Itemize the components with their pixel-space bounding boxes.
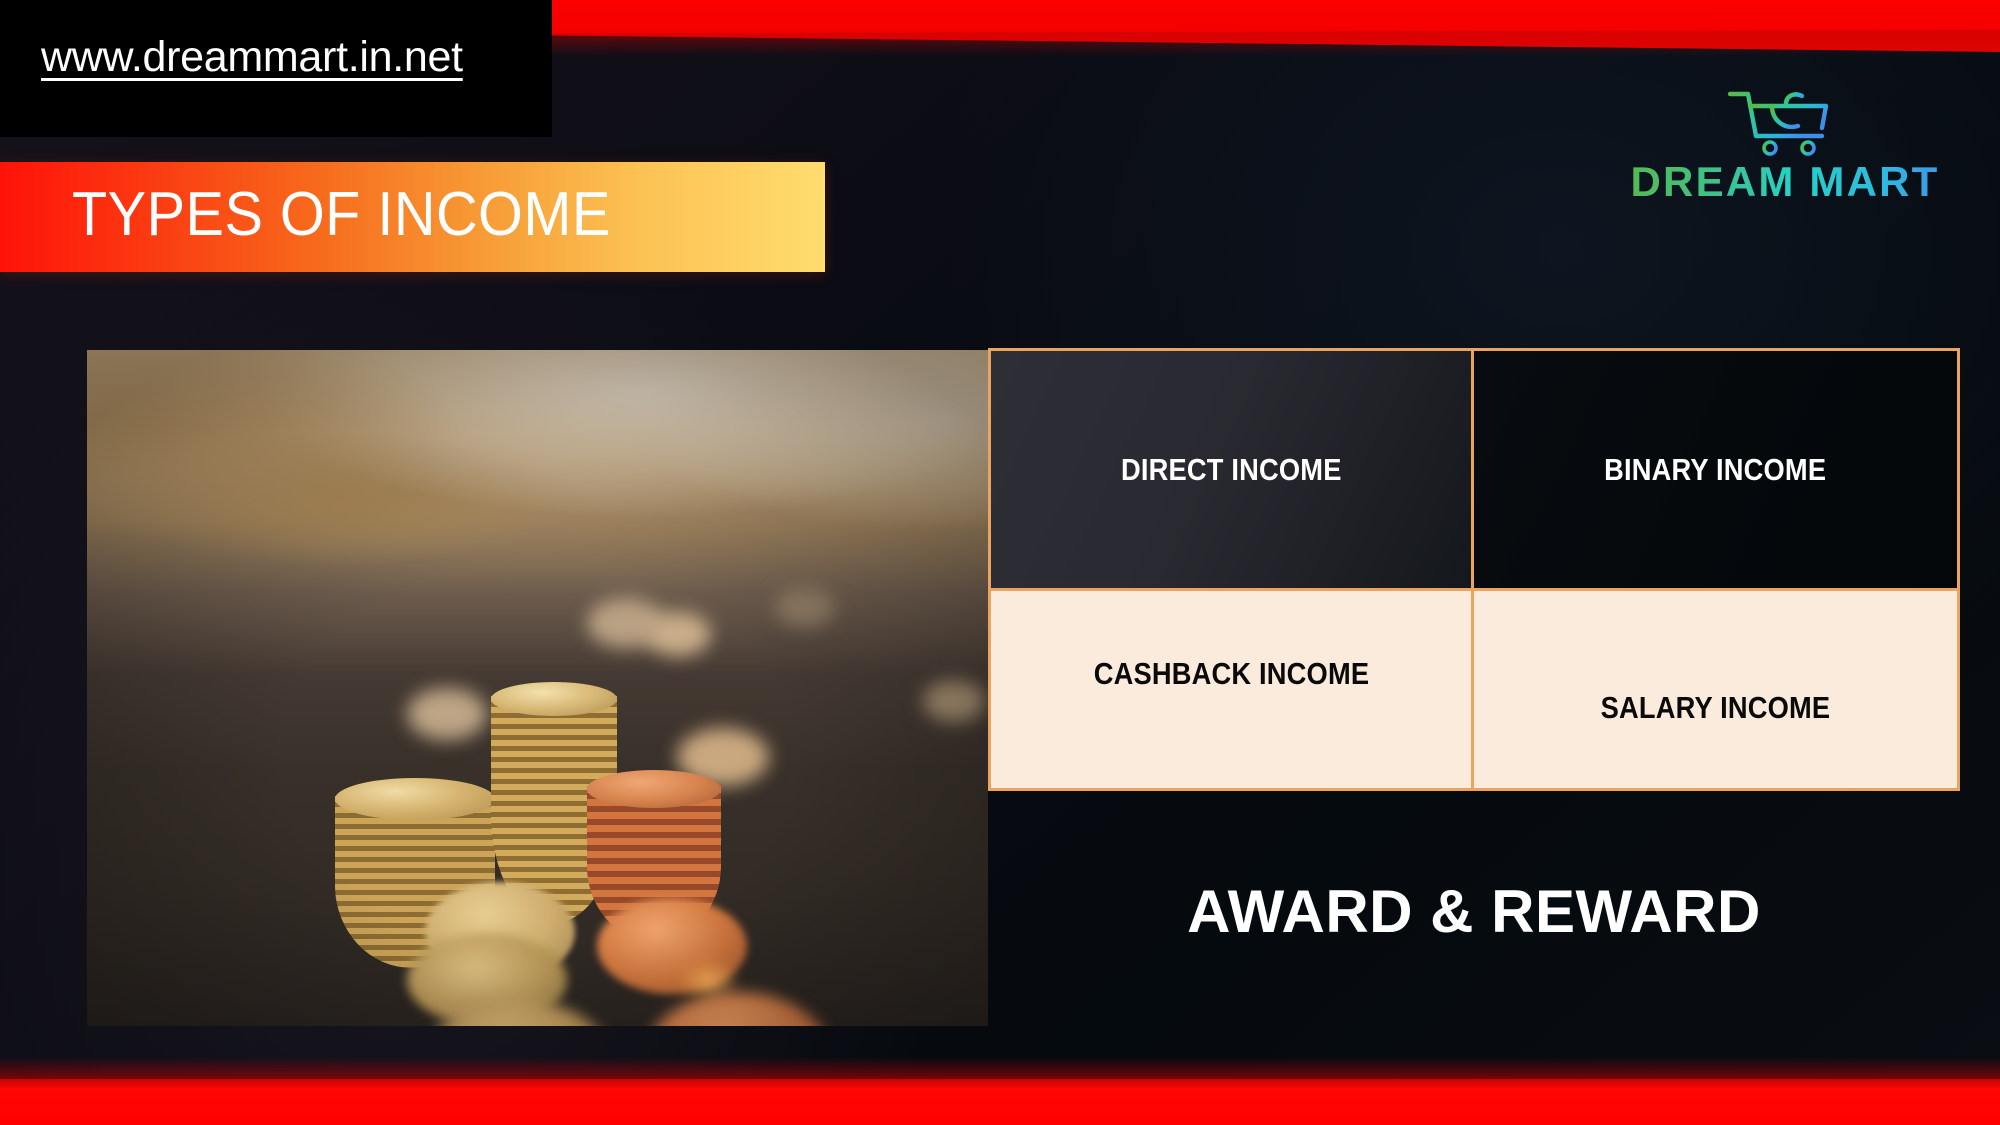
table-cell-cashback-income[interactable]: CASHBACK INCOME bbox=[991, 588, 1474, 788]
coins-photo bbox=[87, 350, 988, 1026]
slide-title-text: TYPES OF INCOME bbox=[72, 179, 611, 250]
table-cell-direct-income[interactable]: DIRECT INCOME bbox=[991, 351, 1474, 588]
bottom-red-accent-band bbox=[0, 1079, 2000, 1125]
table-cell-label: BINARY INCOME bbox=[1604, 452, 1826, 488]
table-cell-label: SALARY INCOME bbox=[1601, 690, 1831, 726]
award-reward-heading: AWARD & REWARD bbox=[988, 877, 1960, 946]
presentation-slide: www.dreammart.in.net TYPES OF INCOME bbox=[0, 0, 2000, 1125]
bottom-red-accent-glow bbox=[0, 1057, 2000, 1079]
table-cell-label: DIRECT INCOME bbox=[1121, 452, 1342, 488]
table-cell-binary-income[interactable]: BINARY INCOME bbox=[1474, 351, 1957, 588]
slide-title-banner: TYPES OF INCOME bbox=[0, 162, 825, 272]
photo-vignette bbox=[87, 350, 988, 1026]
table-cell-label: CASHBACK INCOME bbox=[1093, 656, 1368, 692]
brand-name-text: DREAM MART bbox=[1610, 158, 1960, 206]
shopping-cart-with-fruit-icon bbox=[1710, 80, 1860, 158]
table-cell-salary-income[interactable]: SALARY INCOME bbox=[1474, 588, 1957, 788]
url-watermark-text[interactable]: www.dreammart.in.net bbox=[41, 33, 463, 82]
url-watermark-box: www.dreammart.in.net bbox=[0, 0, 552, 137]
income-types-table: DIRECT INCOME BINARY INCOME CASHBACK INC… bbox=[988, 348, 1960, 791]
brand-logo: DREAM MART bbox=[1610, 80, 1960, 220]
